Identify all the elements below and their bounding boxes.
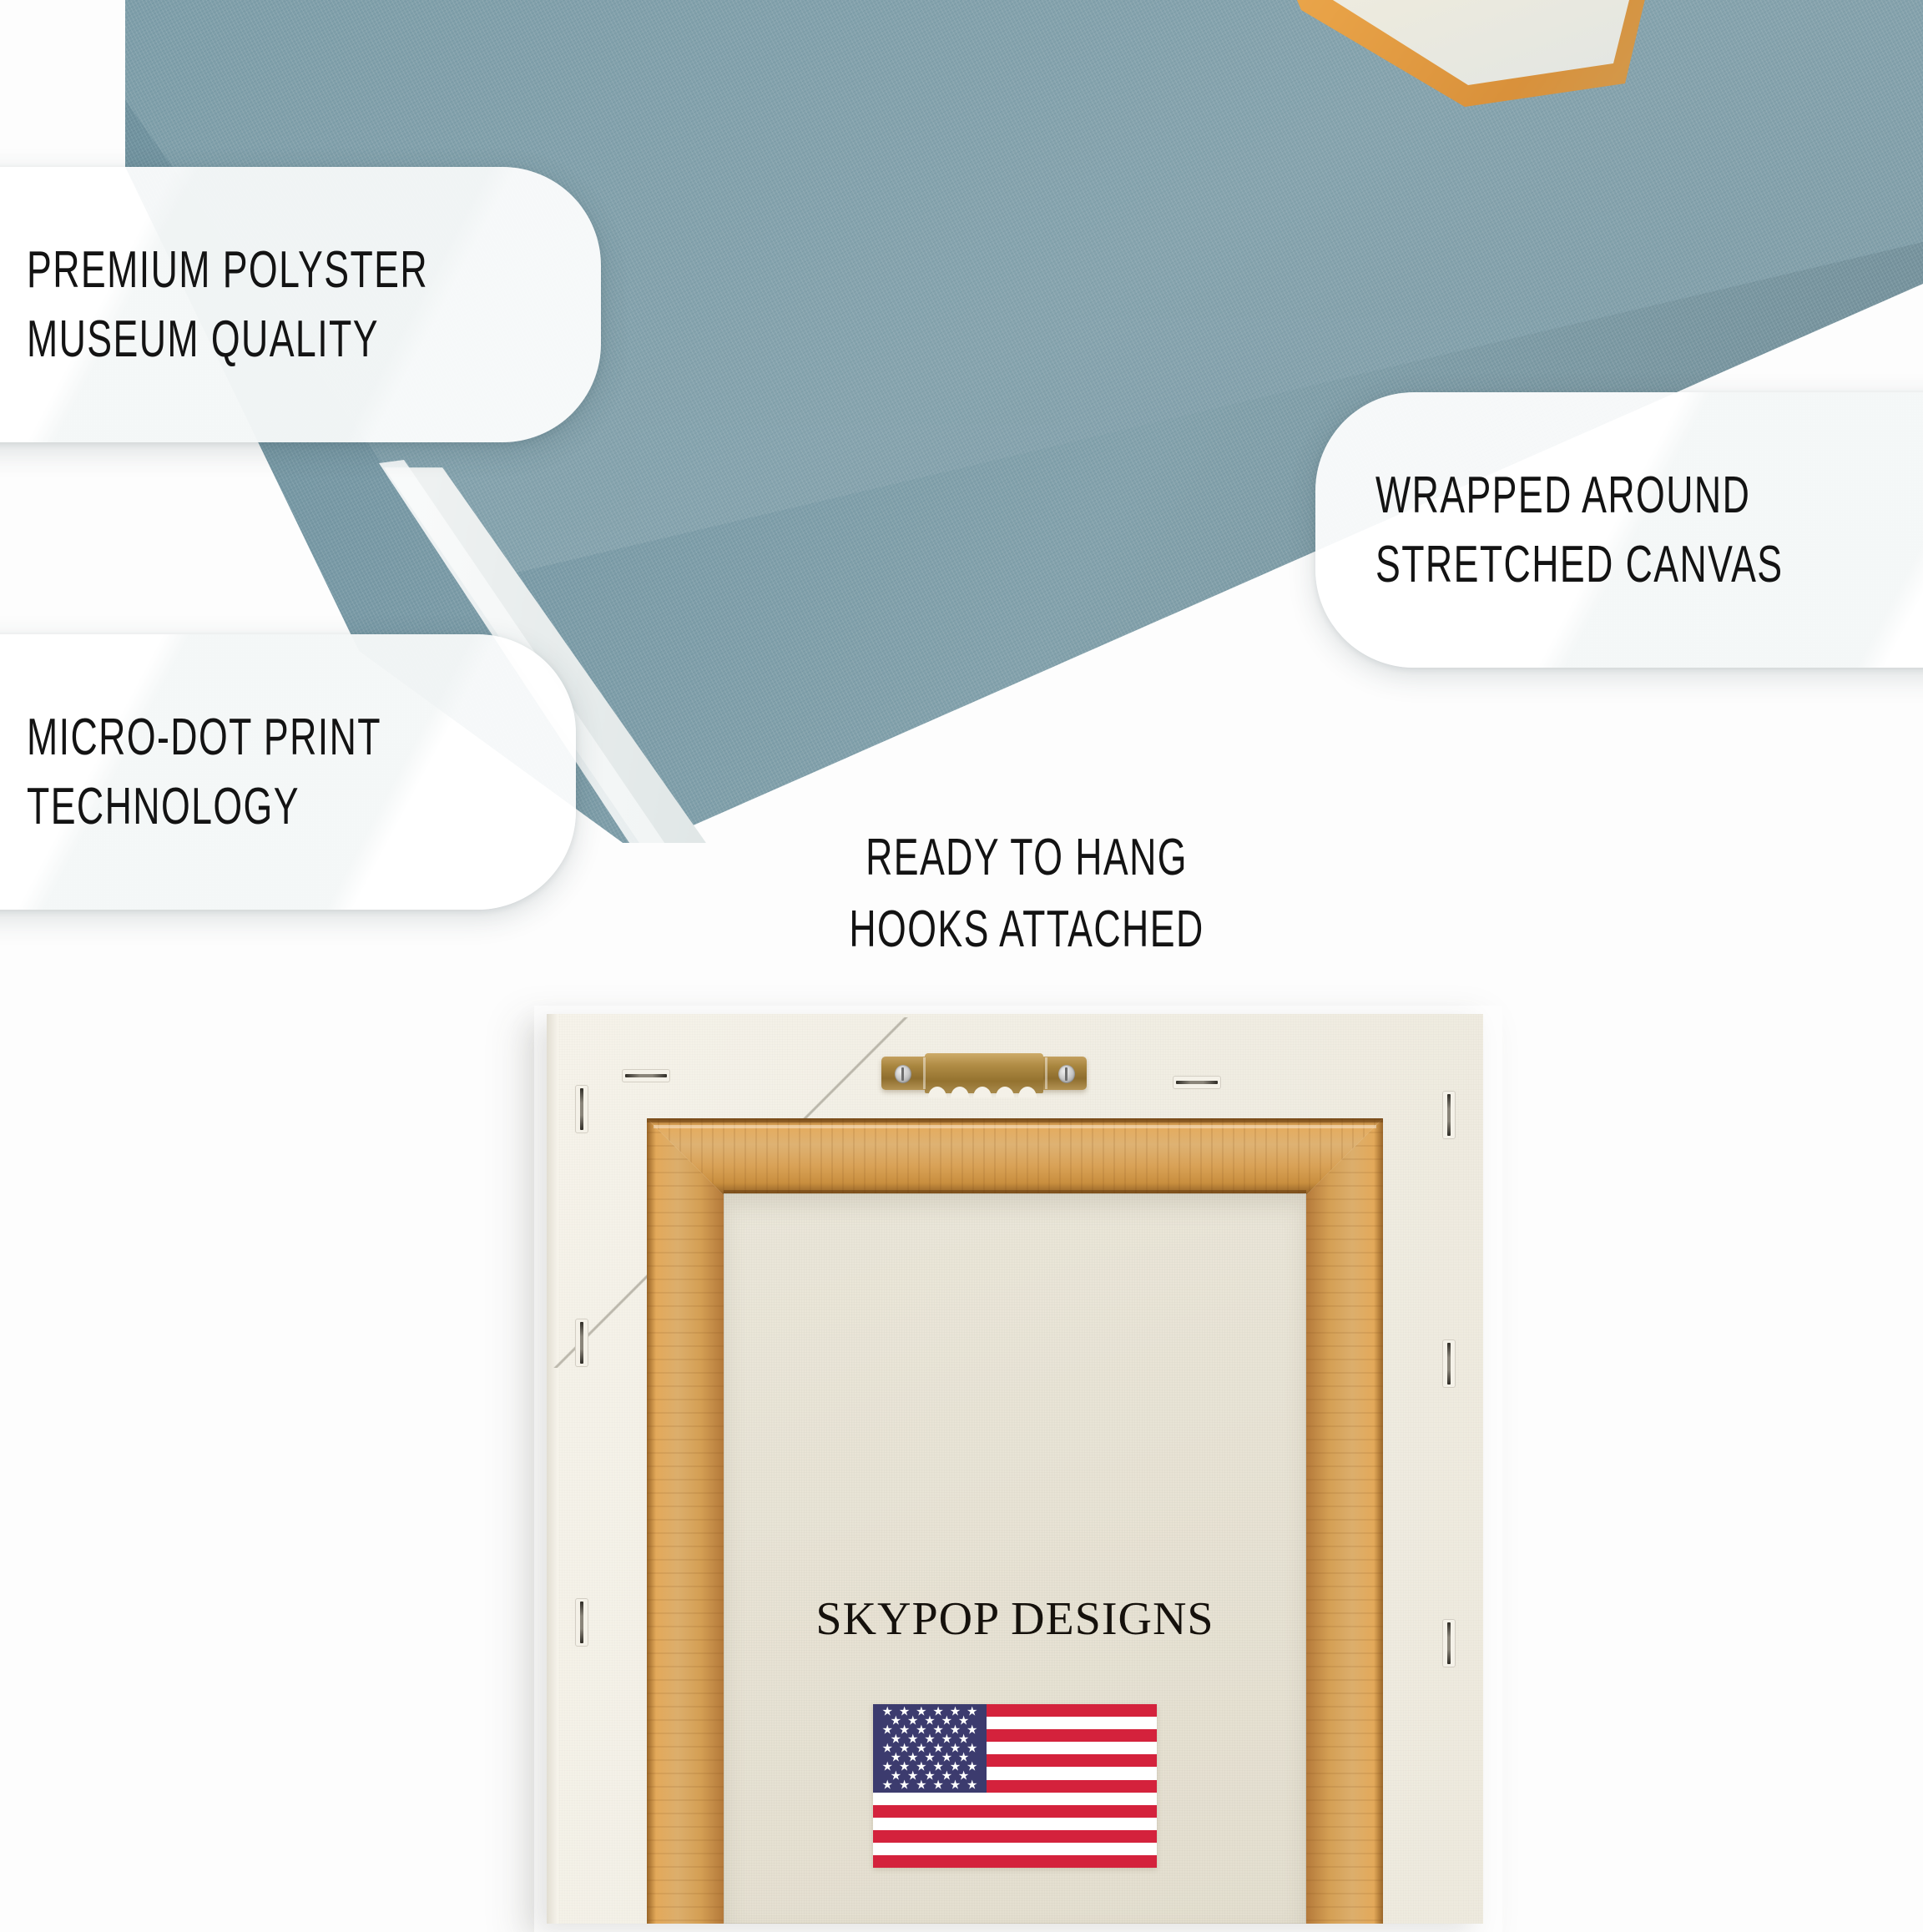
- feature-label-line1: MICRO-DOT PRINT: [27, 703, 422, 772]
- stretcher-top-highlight: [654, 1125, 1376, 1128]
- us-flag: ★★★★★★★★★★★★★★★★★★★★★★★★★★★★★★★★★★★★★★★★…: [873, 1704, 1157, 1868]
- caption-line1: READY TO HANG: [786, 822, 1267, 894]
- staple: [575, 1598, 588, 1647]
- feature-label-wrapped-around: WRAPPED AROUND STRETCHED CANVAS: [1315, 392, 1923, 668]
- hanger-screw-left: [895, 1065, 911, 1083]
- hanger-screw-right: [1058, 1065, 1075, 1083]
- flag-star: ★: [882, 1778, 893, 1791]
- brand-name: SKYPOP DESIGNS: [724, 1592, 1306, 1646]
- feature-label-line1: WRAPPED AROUND: [1375, 461, 1909, 530]
- sawtooth-hanger: [881, 1053, 1087, 1097]
- staple: [575, 1085, 588, 1133]
- hanger-groove-right: [1045, 1057, 1047, 1089]
- staple: [1442, 1619, 1456, 1667]
- staple: [622, 1069, 670, 1082]
- stretcher-bar-left: [647, 1118, 724, 1924]
- feature-label-line1: PREMIUM POLYSTER: [27, 235, 440, 305]
- flag-stripe: [873, 1805, 1157, 1818]
- stretcher-bar-top: [647, 1118, 1383, 1195]
- stretcher-top-shadow-line: [647, 1118, 1383, 1122]
- feature-label-line2: MUSEUM QUALITY: [27, 305, 440, 374]
- stretcher-bar-right: [1306, 1118, 1383, 1924]
- hanger-teeth: [926, 1087, 1042, 1097]
- staple: [1442, 1091, 1456, 1139]
- feature-label-line2: TECHNOLOGY: [27, 772, 422, 841]
- caption-line2: HOOKS ATTACHED: [786, 894, 1267, 966]
- flag-star: ★: [916, 1778, 926, 1791]
- staple: [1173, 1076, 1221, 1089]
- flag-star: ★: [899, 1778, 910, 1791]
- feature-label-line2: STRETCHED CANVAS: [1375, 530, 1909, 599]
- hanger-groove-left: [923, 1057, 926, 1089]
- flag-star: ★: [932, 1778, 943, 1791]
- flag-star: ★: [950, 1778, 961, 1791]
- flag-stripe: [873, 1830, 1157, 1843]
- staple: [575, 1319, 588, 1367]
- flag-star: ★: [967, 1778, 977, 1791]
- feature-label-premium-polyster: PREMIUM POLYSTER MUSEUM QUALITY: [0, 167, 601, 442]
- flag-stripe: [873, 1855, 1157, 1868]
- staple: [1442, 1339, 1456, 1388]
- feature-label-micro-dot-print: MICRO-DOT PRINT TECHNOLOGY: [0, 634, 576, 910]
- ready-to-hang-caption: READY TO HANG HOOKS ATTACHED: [693, 822, 1360, 965]
